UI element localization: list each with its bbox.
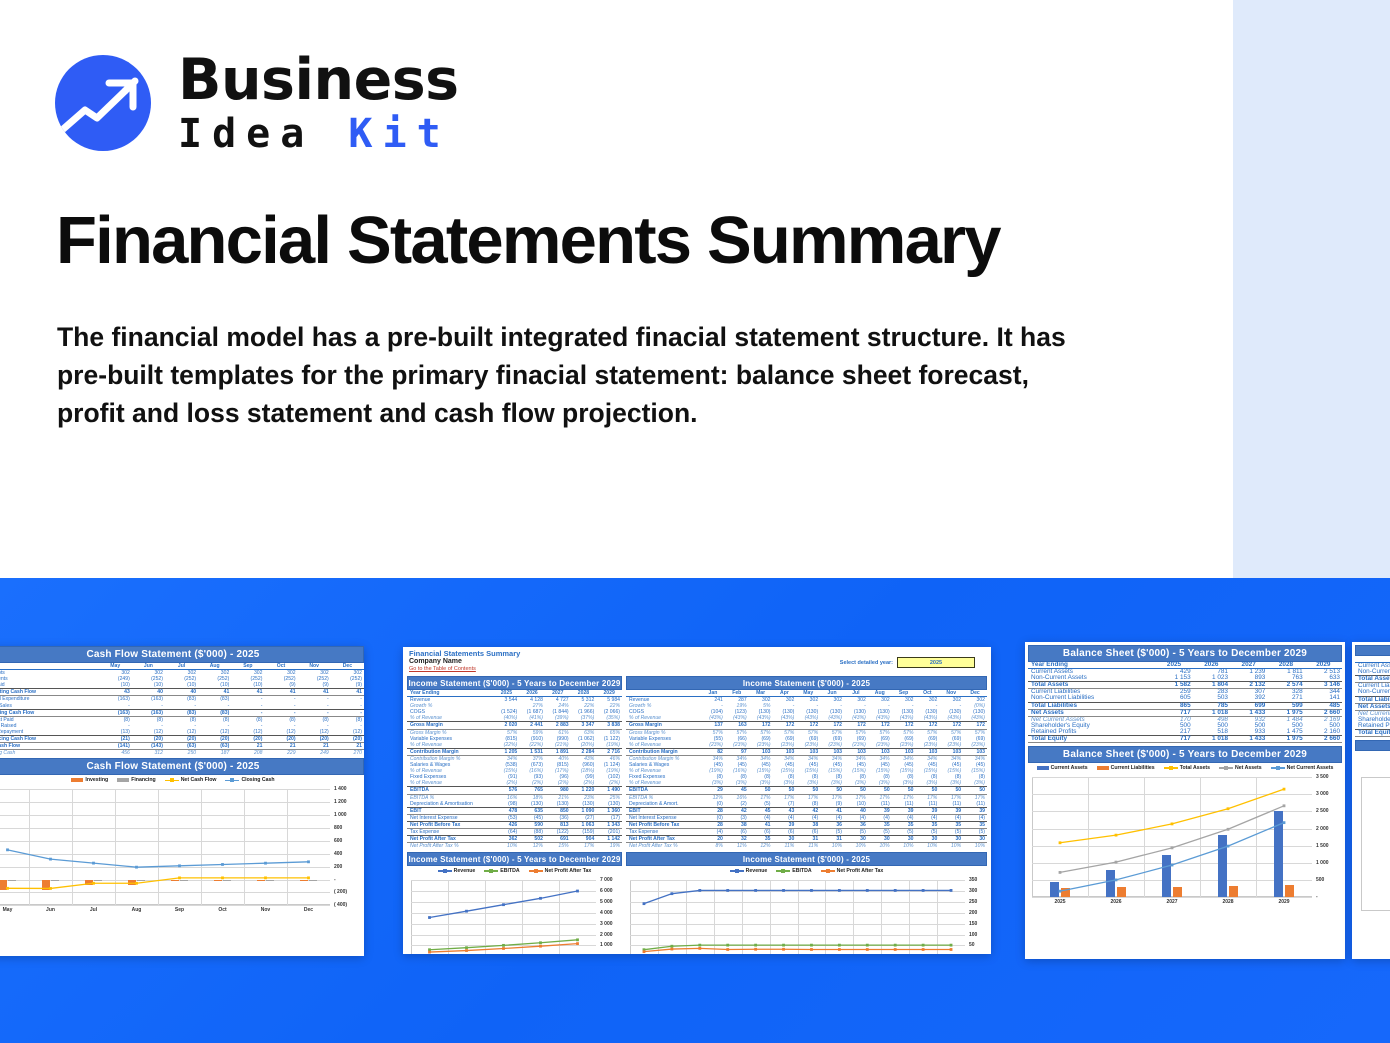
row-value: (12) bbox=[198, 729, 231, 736]
row-value: - bbox=[198, 703, 231, 710]
row-label: Tax Expense bbox=[407, 828, 494, 835]
hero-accent-panel bbox=[1233, 0, 1390, 578]
row-value: (20) bbox=[231, 736, 264, 743]
row-value: 16% bbox=[494, 794, 520, 801]
header-cell: May bbox=[99, 663, 132, 670]
chart-marker bbox=[810, 889, 813, 892]
row-value: (43%) bbox=[844, 715, 868, 722]
row-label: Tax Paid bbox=[0, 682, 99, 689]
balance-sheet-table: Year Ending20252026202720282029Current A… bbox=[1028, 662, 1342, 743]
row-label: Receipts bbox=[0, 670, 99, 677]
row-value: 39 bbox=[773, 821, 797, 828]
legend-label: Current Assets bbox=[1051, 765, 1088, 771]
chart-marker bbox=[465, 947, 468, 950]
row-value: (3%) bbox=[915, 780, 939, 787]
row-value: 20 bbox=[701, 836, 725, 843]
row-value: (10) bbox=[99, 682, 132, 689]
monthly-balance-sheet-screenshot[interactable]: JanCurrent Assets1 174Non-Current Assets… bbox=[1352, 642, 1390, 959]
row-label: % of Revenue bbox=[407, 780, 494, 787]
chart-marker bbox=[810, 948, 813, 951]
header-cell: 2028 bbox=[571, 690, 597, 697]
row-value: 249 bbox=[298, 750, 331, 757]
chart-series-layer bbox=[0, 785, 364, 917]
header-cell bbox=[0, 663, 99, 670]
row-value: (4) bbox=[963, 814, 987, 821]
legend-label: Net Assets bbox=[1235, 765, 1262, 771]
row-value: 302 bbox=[844, 697, 868, 704]
row-value: 10% bbox=[915, 843, 939, 850]
row-value: 17% bbox=[844, 794, 868, 801]
header-cell: Jan bbox=[701, 690, 725, 697]
row-value: 10% bbox=[494, 843, 520, 850]
table-row: Revenue3 5444 1284 7275 3125 984 bbox=[407, 697, 622, 704]
row-value: (43%) bbox=[820, 715, 844, 722]
legend-item: EBITDA bbox=[484, 868, 519, 874]
chart-series-layer bbox=[1355, 773, 1390, 923]
chart-marker bbox=[726, 944, 729, 947]
row-value: 302 bbox=[331, 670, 364, 677]
chart-marker bbox=[810, 944, 813, 947]
row-label: Closing Cash bbox=[0, 750, 99, 757]
chart-marker bbox=[922, 944, 925, 947]
monthly-income-chart: 35030025020015010050-JanFebMarAprMayJunJ… bbox=[626, 876, 987, 954]
row-value: 163 bbox=[725, 722, 749, 729]
row-value: 10% bbox=[844, 843, 868, 850]
row-value: 34% bbox=[868, 755, 892, 762]
row-value: (8) bbox=[298, 716, 331, 723]
row-value: 37% bbox=[519, 755, 545, 762]
row-value: (12) bbox=[331, 729, 364, 736]
legend-item: Net Profit After Tax bbox=[529, 868, 592, 874]
row-value: (23%) bbox=[773, 742, 797, 749]
row-value: (37%) bbox=[571, 715, 597, 722]
row-value: 287 bbox=[725, 697, 749, 704]
chart-marker bbox=[6, 887, 9, 890]
chart-line bbox=[1060, 789, 1284, 843]
row-value: 30 bbox=[844, 836, 868, 843]
header-cell: Jul bbox=[165, 663, 198, 670]
chart-marker bbox=[428, 916, 431, 919]
row-value: (43%) bbox=[915, 715, 939, 722]
row-value: 3 838 bbox=[596, 722, 622, 729]
row-value: 10% bbox=[892, 843, 916, 850]
row-value: (122) bbox=[545, 828, 571, 835]
legend-line bbox=[821, 870, 835, 872]
table-row: Investing Cash Flow(163)(163)(83)(83)---… bbox=[0, 709, 364, 716]
row-value: (2%) bbox=[519, 780, 545, 787]
legend-item: EBITDA bbox=[776, 868, 811, 874]
row-value: (4) bbox=[773, 814, 797, 821]
slide-page: Business Idea Kit Financial Statements S… bbox=[0, 0, 1390, 1043]
row-value: 2 284 bbox=[571, 748, 597, 755]
row-value: 302 bbox=[749, 697, 773, 704]
table-row: Operating Cash Flow4340404141414141 bbox=[0, 689, 364, 696]
legend-line bbox=[225, 780, 239, 782]
chart-marker bbox=[49, 858, 52, 861]
row-value: 30 bbox=[963, 836, 987, 843]
row-value: (7) bbox=[773, 801, 797, 808]
row-value: (5) bbox=[892, 828, 916, 835]
row-value: 1 433 bbox=[1230, 736, 1267, 743]
row-value: 59% bbox=[519, 729, 545, 736]
row-value: 17% bbox=[868, 794, 892, 801]
chart-marker bbox=[502, 944, 505, 947]
row-value: 103 bbox=[892, 748, 916, 755]
row-value: (43%) bbox=[749, 715, 773, 722]
row-value: 57% bbox=[725, 729, 749, 736]
chart-marker bbox=[670, 893, 673, 896]
row-label: Net Interest Expense bbox=[407, 814, 494, 821]
table-row: Depreciation & Amortisation(98)(130)(130… bbox=[407, 801, 622, 808]
row-value: (88) bbox=[519, 828, 545, 835]
row-value: (27) bbox=[571, 814, 597, 821]
row-label: Gross Margin bbox=[626, 722, 701, 729]
header-cell: Jun bbox=[132, 663, 165, 670]
header-cell: Nov bbox=[939, 690, 963, 697]
legend-line bbox=[730, 870, 744, 872]
row-label: Net Profit After Tax bbox=[626, 836, 701, 843]
chart-marker bbox=[782, 944, 785, 947]
row-value: 40 bbox=[165, 689, 198, 696]
row-value: (5) bbox=[749, 801, 773, 808]
row-value: 50 bbox=[939, 787, 963, 794]
row-value: 57% bbox=[749, 729, 773, 736]
row-value: 41 bbox=[198, 689, 231, 696]
row-value: 50 bbox=[773, 787, 797, 794]
legend-item: Net Current Assets bbox=[1271, 765, 1334, 771]
row-value: 17% bbox=[892, 794, 916, 801]
year-picker[interactable]: Select detailed year: 2025 bbox=[840, 657, 975, 668]
row-value: 41 bbox=[820, 807, 844, 814]
row-value: 172 bbox=[939, 722, 963, 729]
row-value: (63) bbox=[165, 743, 198, 750]
row-value: (19%) bbox=[596, 742, 622, 749]
chart-marker bbox=[838, 944, 841, 947]
header-cell: Oct bbox=[264, 663, 297, 670]
table-row: % of Revenue(2%)(2%)(2%)(2%)(2%) bbox=[407, 780, 622, 787]
header-cell: Jul bbox=[844, 690, 868, 697]
chart-marker bbox=[49, 887, 52, 890]
row-value: 312 bbox=[132, 750, 165, 757]
chart-series-layer bbox=[626, 876, 987, 954]
legend-label: Net Profit After Tax bbox=[545, 868, 592, 874]
table-row: Debt Repayment(13)(12)(12)(12)(12)(12)(1… bbox=[0, 729, 364, 736]
row-value: 17% bbox=[820, 794, 844, 801]
table-row: Total Equity512 bbox=[1355, 730, 1390, 737]
row-value: - bbox=[99, 703, 132, 710]
row-value: 21 bbox=[231, 743, 264, 750]
year-picker-label: Select detailed year: bbox=[840, 660, 893, 666]
row-value: (83) bbox=[165, 709, 198, 716]
row-value: (3%) bbox=[892, 780, 916, 787]
row-value: - bbox=[231, 696, 264, 703]
row-value: 2 883 bbox=[545, 722, 571, 729]
table-row: Gross Margin %57%59%61%63%65% bbox=[407, 729, 622, 736]
legend-label: Total Assets bbox=[1180, 765, 1210, 771]
income-statement-screenshot[interactable]: Financial Statements Summary Company Nam… bbox=[403, 647, 991, 954]
legend-label: Financing bbox=[131, 777, 156, 783]
chart-marker bbox=[1227, 828, 1230, 831]
row-value: (12) bbox=[264, 729, 297, 736]
row-value: (130) bbox=[519, 801, 545, 808]
row-value: 137 bbox=[701, 722, 725, 729]
brand-name-line2: Idea Kit bbox=[178, 114, 459, 154]
chart-line bbox=[644, 891, 951, 904]
legend-item: Net Cash Flow bbox=[165, 777, 217, 783]
chart-marker bbox=[307, 877, 310, 880]
monthly-balance-sheet-table: JanCurrent Assets1 174Non-Current Assets… bbox=[1355, 656, 1390, 737]
header-cell: Jun bbox=[820, 690, 844, 697]
row-value: 3 347 bbox=[571, 722, 597, 729]
row-value: 241 bbox=[701, 697, 725, 704]
chart-line bbox=[8, 878, 309, 889]
row-value: (4) bbox=[844, 814, 868, 821]
table-row: Net Interest Expense(0)(3)(4)(4)(4)(4)(4… bbox=[626, 814, 987, 821]
row-value: 43 bbox=[773, 807, 797, 814]
header-cell: 2026 bbox=[519, 690, 545, 697]
row-value: 34% bbox=[773, 755, 797, 762]
row-value: 635 bbox=[519, 807, 545, 814]
row-value: 21 bbox=[298, 743, 331, 750]
row-label: Total Equity bbox=[1028, 736, 1155, 743]
row-value: (141) bbox=[99, 743, 132, 750]
row-value: 2 716 bbox=[596, 748, 622, 755]
table-row: EBIT4786358501 0901 360 bbox=[407, 807, 622, 814]
monthly-income-chart-title: Income Statement ($'000) - 2025 bbox=[626, 852, 987, 866]
row-value: 17% bbox=[571, 843, 597, 850]
table-row: Total Equity7171 0181 4331 9752 660 bbox=[1028, 736, 1342, 743]
table-row: Interest Paid(8)(8)(8)(8)(8)(8)(8)(8) bbox=[0, 716, 364, 723]
row-value: 8% bbox=[701, 843, 725, 850]
row-value: 17% bbox=[796, 794, 820, 801]
chart-marker bbox=[1171, 864, 1174, 867]
row-value: 57% bbox=[796, 729, 820, 736]
brand-name-line1: Business bbox=[178, 52, 459, 109]
annual-income-chart-title: Income Statement ($'000) - 5 Years to De… bbox=[407, 852, 622, 866]
row-label: Contribution Margin % bbox=[407, 755, 494, 762]
chart-marker bbox=[866, 948, 869, 951]
chart-marker bbox=[1115, 861, 1118, 864]
row-value: 1 142 bbox=[596, 836, 622, 843]
row-value: (8) bbox=[99, 716, 132, 723]
year-picker-input[interactable]: 2025 bbox=[897, 657, 975, 668]
row-value: (11) bbox=[892, 801, 916, 808]
row-value: 765 bbox=[519, 787, 545, 794]
row-value: 50 bbox=[892, 787, 916, 794]
row-value: 456 bbox=[99, 750, 132, 757]
row-label: EBITDA bbox=[626, 787, 701, 794]
row-value: (3%) bbox=[844, 780, 868, 787]
row-label: % of Revenue bbox=[626, 715, 701, 722]
row-value: (9) bbox=[820, 801, 844, 808]
row-label: EBITDA bbox=[407, 787, 494, 794]
row-value: (22%) bbox=[494, 742, 520, 749]
header-cell: Feb bbox=[725, 690, 749, 697]
row-value: 35 bbox=[868, 821, 892, 828]
row-value: (3%) bbox=[725, 780, 749, 787]
row-value: 15% bbox=[545, 843, 571, 850]
row-value: - bbox=[231, 709, 264, 716]
chart-marker bbox=[950, 889, 953, 892]
row-value: 10% bbox=[963, 843, 987, 850]
cash-flow-chart: 1 4001 2001 000800600400200-( 200)( 400)… bbox=[0, 785, 364, 917]
chart-marker bbox=[670, 945, 673, 948]
chart-series-layer bbox=[1028, 773, 1342, 909]
row-value: 38 bbox=[796, 821, 820, 828]
row-value: 1 343 bbox=[596, 821, 622, 828]
row-value: 30 bbox=[892, 836, 916, 843]
table-row: Financing Cash Flow(21)(20)(20)(20)(20)(… bbox=[0, 736, 364, 743]
row-value: (4) bbox=[701, 828, 725, 835]
row-value: 57% bbox=[963, 729, 987, 736]
row-value: (45) bbox=[519, 814, 545, 821]
row-value: 34% bbox=[963, 755, 987, 762]
row-value: 172 bbox=[892, 722, 916, 729]
row-value: 34% bbox=[749, 755, 773, 762]
chart-marker bbox=[221, 877, 224, 880]
row-label: EBITDA % bbox=[407, 794, 494, 801]
chart-marker bbox=[1283, 805, 1286, 808]
row-value: (4) bbox=[939, 814, 963, 821]
row-value: 34% bbox=[915, 755, 939, 762]
chart-marker bbox=[838, 948, 841, 951]
row-value: 50 bbox=[915, 787, 939, 794]
row-value: 302 bbox=[298, 670, 331, 677]
header-cell: Year Ending bbox=[407, 690, 494, 697]
legend-item: Current Assets bbox=[1037, 765, 1088, 771]
table-row: Contribution Margin %34%37%40%43%46% bbox=[407, 755, 622, 762]
chart-marker bbox=[754, 948, 757, 951]
row-value: (0) bbox=[701, 801, 725, 808]
row-value: 10% bbox=[868, 843, 892, 850]
row-value: (83) bbox=[198, 696, 231, 703]
row-value: (6) bbox=[773, 828, 797, 835]
table-row: % of Revenue(43%)(43%)(43%)(43%)(43%)(43… bbox=[626, 715, 987, 722]
row-value: 41 bbox=[331, 689, 364, 696]
row-value: 34% bbox=[820, 755, 844, 762]
chart-marker bbox=[92, 862, 95, 865]
row-value: (2%) bbox=[494, 780, 520, 787]
row-value: - bbox=[264, 709, 297, 716]
row-value: (23%) bbox=[725, 742, 749, 749]
cash-flow-table-title: Cash Flow Statement ($'000) - 2025 bbox=[0, 646, 364, 663]
chart-marker bbox=[539, 945, 542, 948]
chart-marker bbox=[539, 942, 542, 945]
monthly-balance-sheet-chart: Jan bbox=[1355, 773, 1390, 923]
table-row: Net Profit Before Tax4265908131 0631 343 bbox=[407, 821, 622, 828]
page-title: Financial Statements Summary bbox=[56, 202, 1176, 279]
chart-marker bbox=[428, 951, 431, 954]
chart-marker bbox=[894, 944, 897, 947]
chart-marker bbox=[1283, 821, 1286, 824]
row-value: - bbox=[165, 703, 198, 710]
row-value: (8) bbox=[165, 716, 198, 723]
row-label: Contribution Margin bbox=[407, 748, 494, 755]
chart-marker bbox=[221, 863, 224, 866]
chart-line bbox=[1060, 823, 1284, 892]
row-value: 21 bbox=[264, 743, 297, 750]
header-cell: 2025 bbox=[494, 690, 520, 697]
row-value: (9) bbox=[298, 682, 331, 689]
row-value: 172 bbox=[844, 722, 868, 729]
chart-marker bbox=[1115, 879, 1118, 882]
monthly-income-title: Income Statement ($'000) - 2025 bbox=[626, 676, 987, 690]
row-value: 103 bbox=[868, 748, 892, 755]
row-value: (163) bbox=[132, 709, 165, 716]
row-value: (6) bbox=[749, 828, 773, 835]
chart-line bbox=[644, 949, 951, 952]
chart-marker bbox=[576, 939, 579, 942]
chart-marker bbox=[754, 889, 757, 892]
row-value: (163) bbox=[132, 696, 165, 703]
chart-marker bbox=[92, 882, 95, 885]
row-value: (23%) bbox=[844, 742, 868, 749]
row-value: (83) bbox=[165, 696, 198, 703]
row-value: 42 bbox=[725, 807, 749, 814]
row-value: (39%) bbox=[545, 715, 571, 722]
chart-marker bbox=[922, 889, 925, 892]
row-value: (23%) bbox=[749, 742, 773, 749]
header-cell: Apr bbox=[773, 690, 797, 697]
chart-marker bbox=[1059, 841, 1062, 844]
cash-flow-chart-title: Cash Flow Statement ($'000) - 2025 bbox=[0, 758, 364, 775]
balance-sheet-chart-legend: Current AssetsCurrent LiabilitiesTotal A… bbox=[1028, 763, 1342, 773]
row-value: 23% bbox=[571, 794, 597, 801]
row-value: 40 bbox=[844, 807, 868, 814]
chart-series-layer bbox=[407, 876, 622, 954]
row-value: - bbox=[298, 696, 331, 703]
row-label: Net Profit Before Tax bbox=[626, 821, 701, 828]
table-row: Capital Expenditure(163)(163)(83)(83)---… bbox=[0, 696, 364, 703]
row-value: 4 727 bbox=[545, 697, 571, 704]
row-value: (20) bbox=[264, 736, 297, 743]
row-value: 97 bbox=[725, 748, 749, 755]
header-cell: Dec bbox=[331, 663, 364, 670]
row-value: 426 bbox=[494, 821, 520, 828]
row-value: 42 bbox=[796, 807, 820, 814]
header-cell: Sep bbox=[892, 690, 916, 697]
cash-flow-screenshot[interactable]: Cash Flow Statement ($'000) - 2025 MayJu… bbox=[0, 646, 364, 956]
row-value: (20) bbox=[331, 736, 364, 743]
row-value: (13) bbox=[99, 729, 132, 736]
row-value: 172 bbox=[963, 722, 987, 729]
chart-marker bbox=[307, 861, 310, 864]
chart-marker bbox=[643, 951, 646, 954]
legend-label: Investing bbox=[85, 777, 108, 783]
row-value: - bbox=[331, 696, 364, 703]
table-row: Tax Expense(64)(88)(122)(159)(201) bbox=[407, 828, 622, 835]
row-value: 34% bbox=[725, 755, 749, 762]
row-value: (4) bbox=[915, 814, 939, 821]
annual-chart-legend: RevenueEBITDANet Profit After Tax bbox=[407, 866, 622, 876]
row-value: (8) bbox=[264, 716, 297, 723]
row-value: 45 bbox=[725, 787, 749, 794]
row-value: (12) bbox=[231, 729, 264, 736]
row-value: (130) bbox=[545, 801, 571, 808]
row-value: 30 bbox=[939, 836, 963, 843]
row-label: Operating Cash Flow bbox=[0, 689, 99, 696]
row-label: EBITDA % bbox=[626, 794, 701, 801]
row-label: Net Interest Expense bbox=[626, 814, 701, 821]
row-value: 980 bbox=[545, 787, 571, 794]
legend-line bbox=[438, 870, 452, 872]
row-value: (130) bbox=[571, 801, 597, 808]
legend-swatch bbox=[117, 778, 129, 782]
row-value: 302 bbox=[264, 670, 297, 677]
row-value: 302 bbox=[99, 670, 132, 677]
balance-sheet-screenshot[interactable]: Balance Sheet ($'000) - 5 Years to Decem… bbox=[1025, 642, 1345, 959]
table-row: % of Revenue(40%)(41%)(39%)(37%)(35%) bbox=[407, 715, 622, 722]
